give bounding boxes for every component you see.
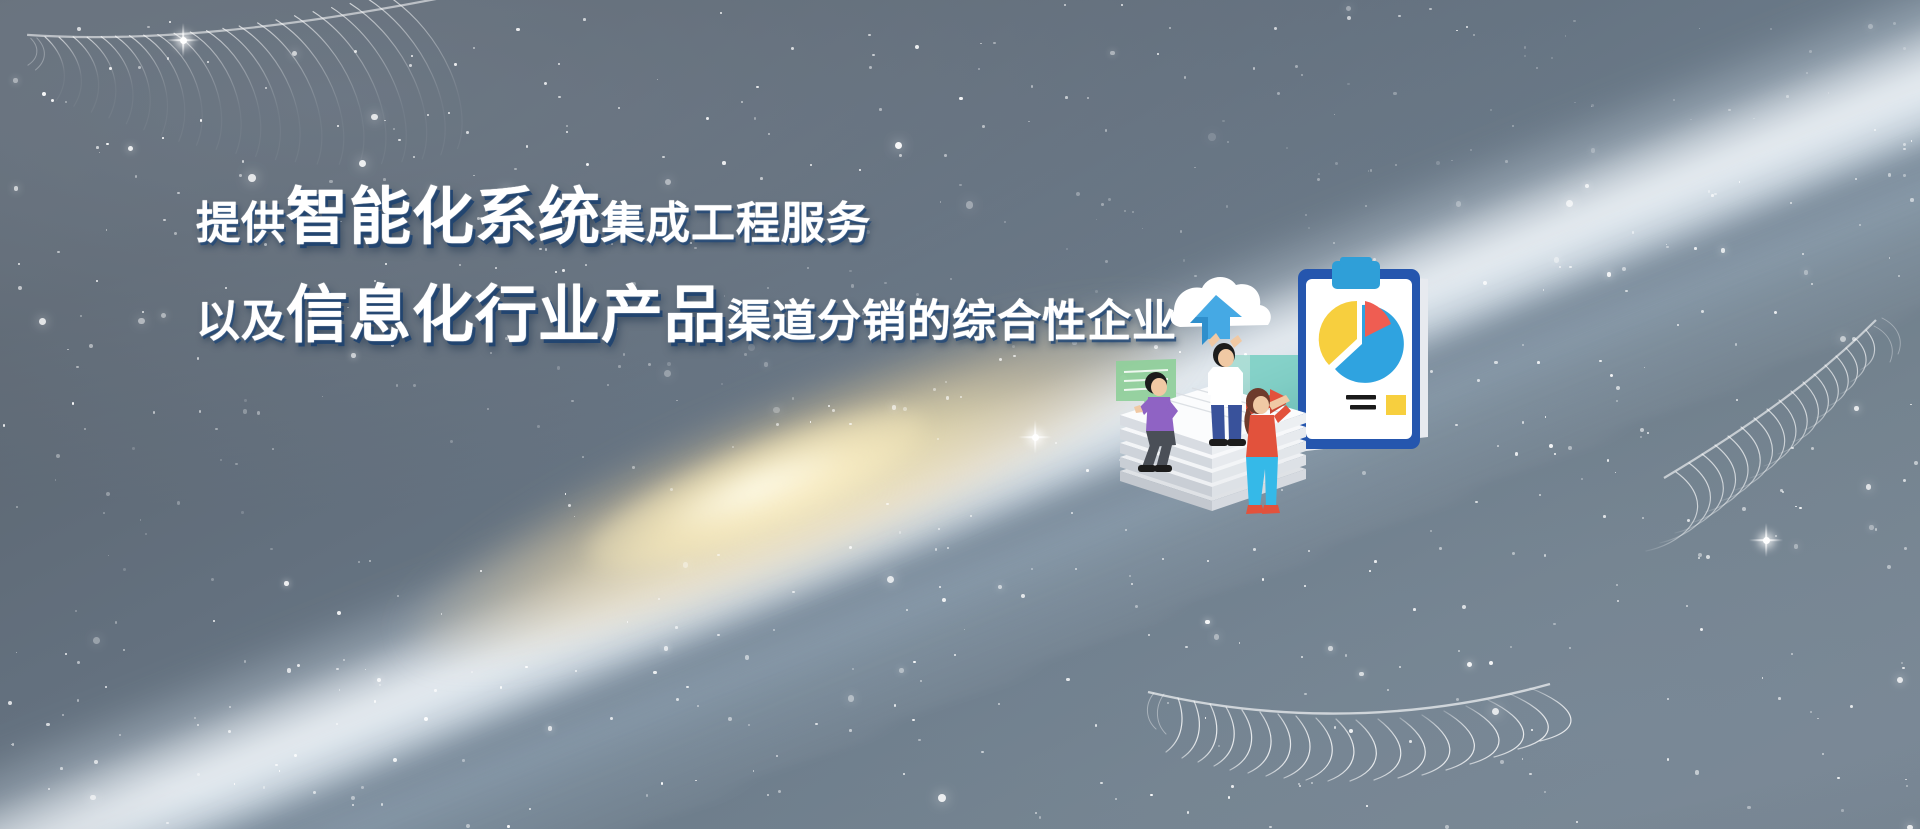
galaxy-arm-streaks [0, 0, 1920, 829]
hero-illustration [1110, 255, 1450, 565]
starfield [0, 0, 1920, 829]
feather-bottom-center [1090, 600, 1610, 829]
headline-line-2: 以及信息化行业产品渠道分销的综合性企业 [196, 284, 1096, 346]
galaxy-core-glow [380, 248, 1219, 722]
headline-line2-segment-2: 信息化行业产品 [286, 278, 727, 351]
headline-line2-segment-1: 以及 [196, 296, 286, 347]
headline-line1-segment-2: 智能化系统 [286, 180, 601, 253]
galaxy-core-hotspot [572, 381, 940, 597]
galaxy-dark-lane [0, 0, 1920, 829]
feather-top-left [10, 0, 480, 220]
galaxy-band [0, 0, 1920, 829]
feather-right [1598, 292, 1920, 562]
clipboard [1298, 257, 1428, 451]
vignette-overlay [0, 0, 1920, 829]
headline-line1-segment-1: 提供 [196, 198, 286, 249]
headline-line-1: 提供智能化系统集成工程服务 [196, 186, 1096, 248]
headline-block: 提供智能化系统集成工程服务 以及信息化行业产品渠道分销的综合性企业 [196, 186, 1096, 346]
galaxy-dust-layer [0, 0, 1920, 829]
galaxy-bright-ridge [0, 0, 1920, 829]
hero-banner: 提供智能化系统集成工程服务 以及信息化行业产品渠道分销的综合性企业 [0, 0, 1920, 829]
headline-line1-segment-3: 集成工程服务 [601, 198, 871, 249]
sticky-note [1386, 395, 1406, 415]
